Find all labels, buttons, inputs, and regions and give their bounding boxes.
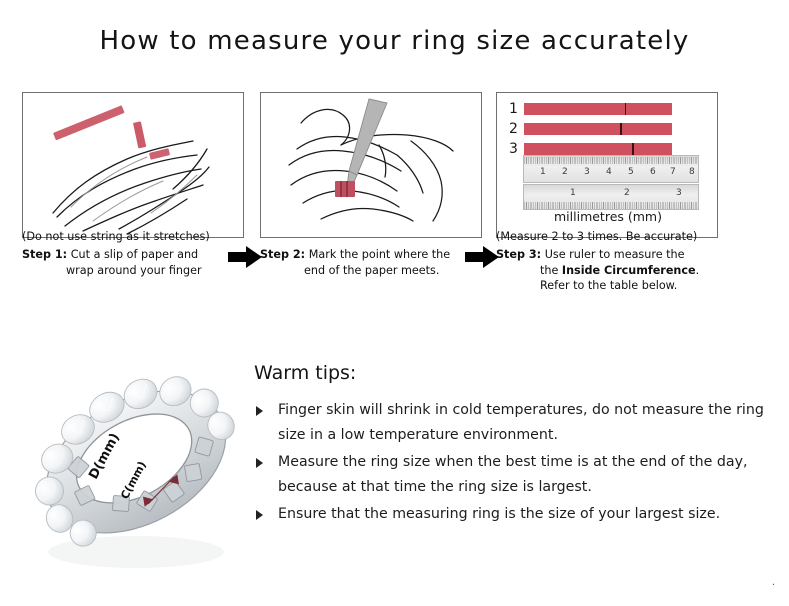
step-3-line2: the Inside Circumference. [496,263,718,279]
strip-mark-3 [632,143,634,155]
step-2-line2: end of the paper meets. [260,263,482,279]
cm-tick-3: 3 [584,167,590,177]
triangle-bullet-icon [256,458,263,468]
strip-number-3: 3 [509,141,524,157]
tip-item-2: Measure the ring size when the best time… [254,450,764,500]
step-card-2: Step 2: Mark the point where the end of … [260,92,482,278]
paper-strip-2 [524,123,672,135]
paper-strip-row: 2 [509,121,672,137]
triangle-bullet-icon [256,406,263,416]
ruler-graphic: 1 2 3 4 5 6 7 8 1 2 3 [523,155,699,210]
warm-tips-heading: Warm tips: [254,362,764,384]
step-3-line1: Use ruler to measure the [545,248,685,261]
cm-tick-5: 5 [628,167,634,177]
step-2-line1: Mark the point where the [309,248,450,261]
inch-tick-2: 2 [624,188,630,198]
hand-with-paper-strip-icon [23,93,242,236]
step-card-3: 1 2 3 1 2 [496,92,718,294]
step-1-label: Step 1: [22,248,67,261]
cm-tick-6: 6 [650,167,656,177]
page-title: How to measure your ring size accurately [0,26,789,56]
strip-mark-1 [625,103,627,115]
footer-mark: . [772,577,775,588]
step-1-line2: wrap around your finger [22,263,244,279]
ruler-ticks-inch [524,202,698,209]
paper-strip-row: 1 [509,101,672,117]
step-1-line1: Cut a slip of paper and [71,248,198,261]
triangle-bullet-icon [256,510,263,520]
tip-text-2: Measure the ring size when the best time… [278,454,748,495]
step-3-label: Step 3: [496,248,541,261]
step-2-label: Step 2: [260,248,305,261]
step-3-inside-circumference: Inside Circumference [562,264,696,277]
cm-tick-1: 1 [540,167,546,177]
step-1-caption: Step 1: Cut a slip of paper and wrap aro… [22,247,244,278]
eternity-band-ring-diagram: D(mm) C(mm) [24,352,252,582]
step-card-1: Step 1: Cut a slip of paper and wrap aro… [22,92,244,278]
ring-size-guide-page: How to measure your ring size accurately [0,0,789,606]
paper-strip-3 [524,143,672,155]
inch-tick-1: 1 [570,188,576,198]
step-1-illustration-panel [22,92,244,238]
tip-item-3: Ensure that the measuring ring is the si… [254,502,764,527]
step-2-caption: Step 2: Mark the point where the end of … [260,247,482,278]
strip-number-2: 2 [509,121,524,137]
paper-strips-group: 1 2 3 [509,101,672,161]
tip-text-1: Finger skin will shrink in cold temperat… [278,402,764,443]
paper-strip-1 [524,103,672,115]
strip-number-1: 1 [509,101,524,117]
cm-tick-2: 2 [562,167,568,177]
step-3-line3: Refer to the table below. [496,278,718,294]
arrow-step1-to-step2 [228,244,262,270]
warm-tips-section: Warm tips: Finger skin will shrink in co… [254,362,764,529]
tip-item-1: Finger skin will shrink in cold temperat… [254,398,764,448]
ruler-unit-label: millimetres (mm) [497,209,718,224]
step-3-caption: Step 3: Use ruler to measure the the Ins… [496,247,718,294]
cm-tick-7: 7 [670,167,676,177]
step-3-note: (Measure 2 to 3 times. Be accurate) [496,230,697,243]
step-3-line2-prefix: the [540,264,562,277]
ruler-centimetre-scale: 1 2 3 4 5 6 7 8 [523,155,699,183]
step-2-illustration-panel [260,92,482,238]
hand-marking-paper-with-pen-icon [261,93,480,236]
cm-tick-8: 8 [689,167,695,177]
step-3-illustration-panel: 1 2 3 1 2 [496,92,718,238]
tip-text-3: Ensure that the measuring ring is the si… [278,506,720,522]
ruler-inch-scale: 1 2 3 [523,184,699,210]
ruler-ticks-cm [524,157,698,164]
ring-diagram: D(mm) C(mm) [24,352,252,582]
arrow-step2-to-step3 [465,244,499,270]
step-3-line2-suffix: . [696,264,700,277]
cm-tick-4: 4 [606,167,612,177]
strip-mark-2 [620,123,622,135]
step-1-note: (Do not use string as it stretches) [22,230,210,243]
inch-tick-3: 3 [676,188,682,198]
